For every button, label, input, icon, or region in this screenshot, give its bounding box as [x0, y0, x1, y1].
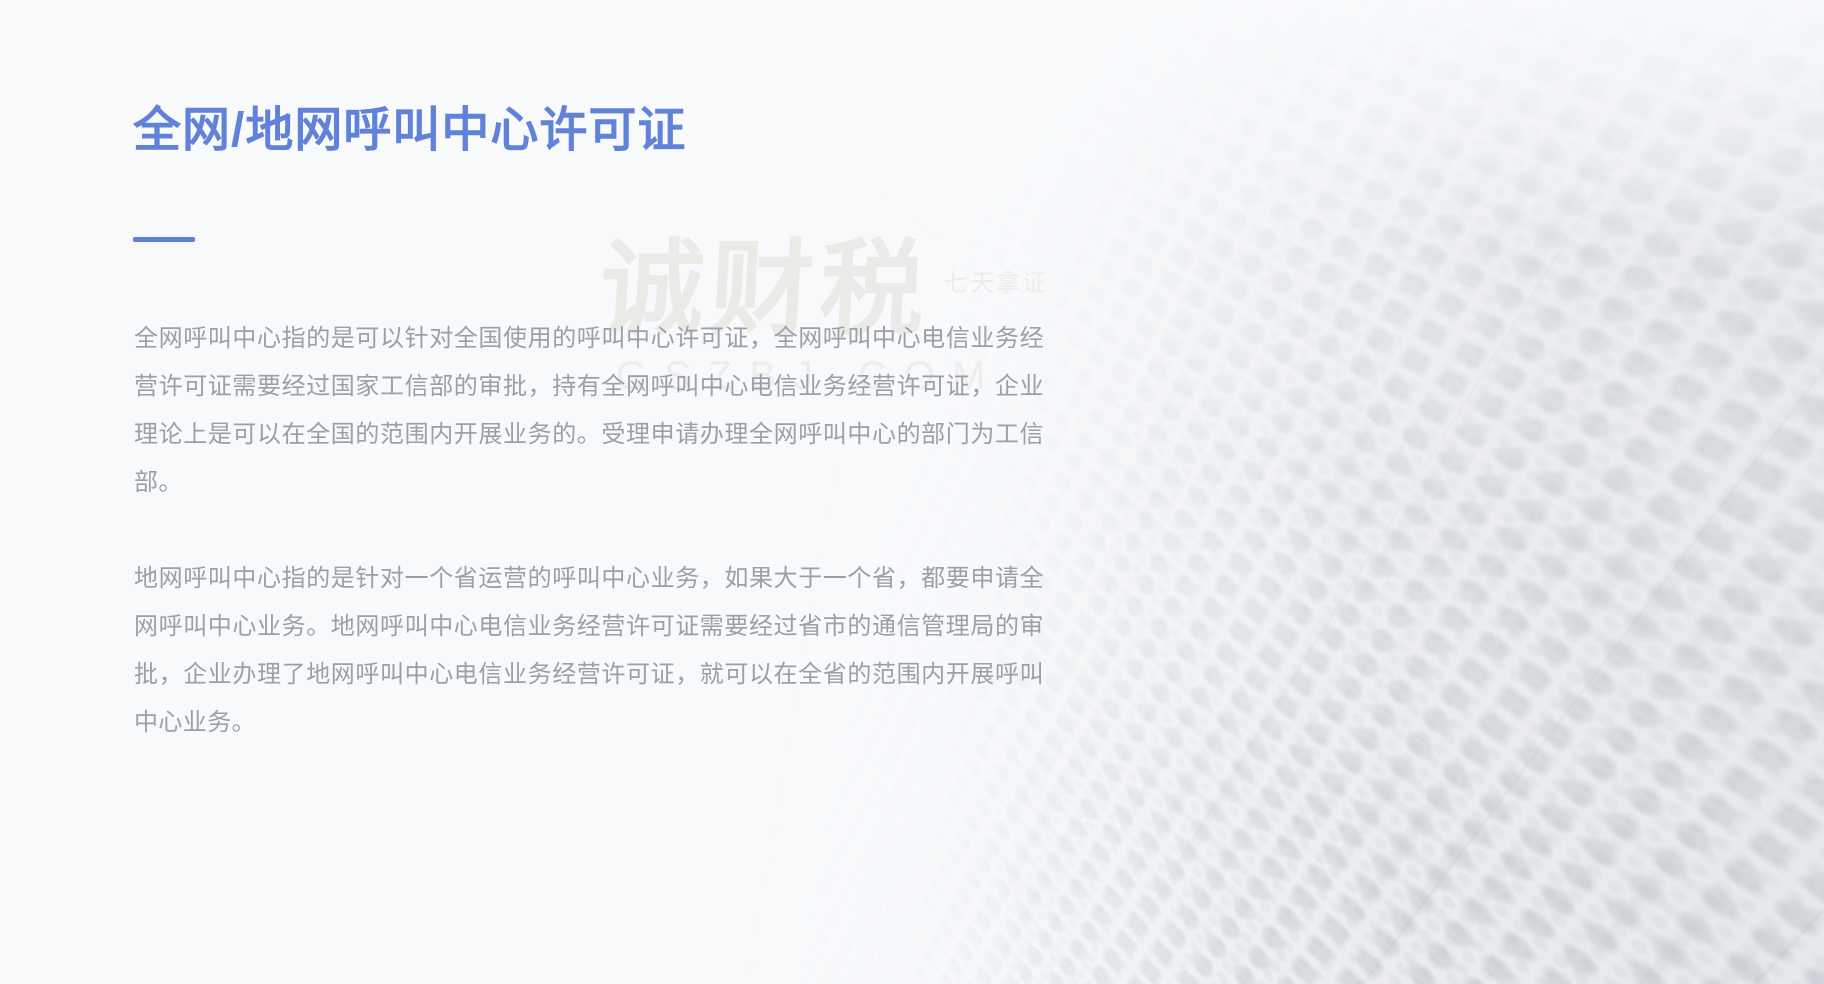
paragraph-diwang: 地网呼叫中心指的是针对一个省运营的呼叫中心业务，如果大于一个省，都要申请全网呼叫… [134, 555, 1044, 747]
page-title: 全网/地网呼叫中心许可证 [133, 101, 686, 161]
page-root: 诚财税 七天拿证 GSZBJ.COM 全网/地网呼叫中心许可证 全网呼叫中心指的… [0, 0, 1824, 984]
title-divider [133, 237, 195, 242]
body-copy: 全网呼叫中心指的是可以针对全国使用的呼叫中心许可证，全网呼叫中心电信业务经营许可… [134, 315, 1044, 747]
watermark-tagline: 七天拿证 [944, 263, 1048, 298]
paragraph-quanwang: 全网呼叫中心指的是可以针对全国使用的呼叫中心许可证，全网呼叫中心电信业务经营许可… [134, 315, 1044, 507]
